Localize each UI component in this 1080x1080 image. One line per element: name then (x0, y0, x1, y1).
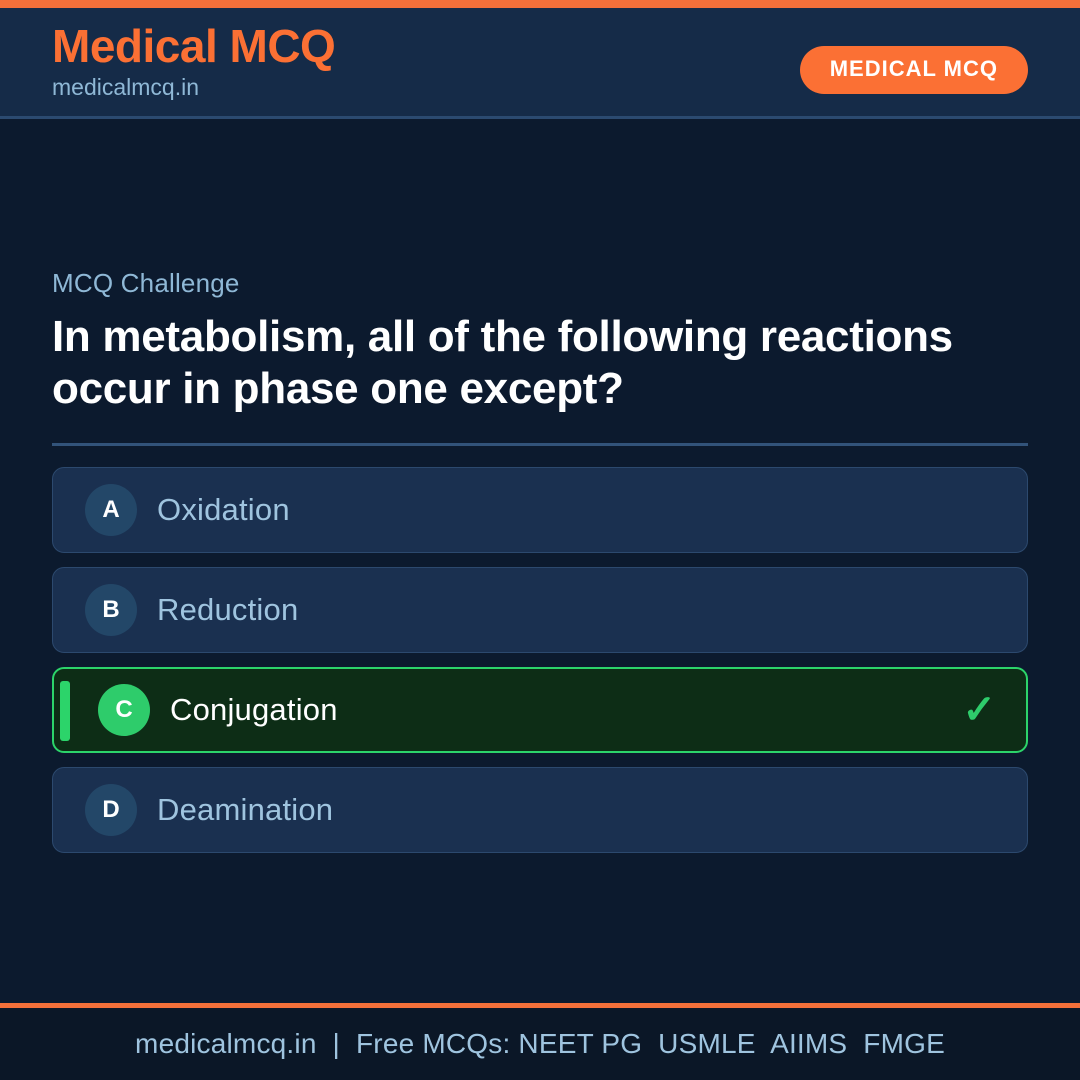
option-label-b: Reduction (157, 592, 298, 628)
question-block: MCQ Challenge In metabolism, all of the … (52, 268, 1028, 853)
option-letter-badge-d: D (85, 784, 137, 836)
footer-text: medicalmcq.in | Free MCQs: NEET PG USMLE… (135, 1028, 945, 1060)
brand-lockup: Medical MCQ medicalmcq.in (52, 22, 335, 101)
correct-accent-bar (60, 681, 70, 741)
question-text: In metabolism, all of the following reac… (52, 311, 1028, 415)
question-divider (52, 443, 1028, 446)
option-label-a: Oxidation (157, 492, 290, 528)
answer-options-list: A Oxidation B Reduction C Conjugation ✓ … (52, 467, 1028, 853)
answer-option-b[interactable]: B Reduction (52, 567, 1028, 653)
answer-option-c[interactable]: C Conjugation ✓ (52, 667, 1028, 753)
option-letter-badge-a: A (85, 484, 137, 536)
top-accent-rule (0, 0, 1080, 8)
option-label-c: Conjugation (170, 692, 338, 728)
page-header: Medical MCQ medicalmcq.in MEDICAL MCQ (0, 8, 1080, 119)
option-letter-badge-c: C (98, 684, 150, 736)
option-letter-badge-b: B (85, 584, 137, 636)
check-icon: ✓ (962, 690, 996, 730)
answer-option-d[interactable]: D Deamination (52, 767, 1028, 853)
brand-badge: MEDICAL MCQ (800, 46, 1028, 94)
main-content-area: MCQ Challenge In metabolism, all of the … (0, 122, 1080, 1008)
section-eyebrow-label: MCQ Challenge (52, 268, 1028, 299)
brand-website: medicalmcq.in (52, 75, 335, 100)
page-footer: medicalmcq.in | Free MCQs: NEET PG USMLE… (0, 1008, 1080, 1080)
brand-title: Medical MCQ (52, 22, 335, 70)
answer-option-a[interactable]: A Oxidation (52, 467, 1028, 553)
option-label-d: Deamination (157, 792, 333, 828)
